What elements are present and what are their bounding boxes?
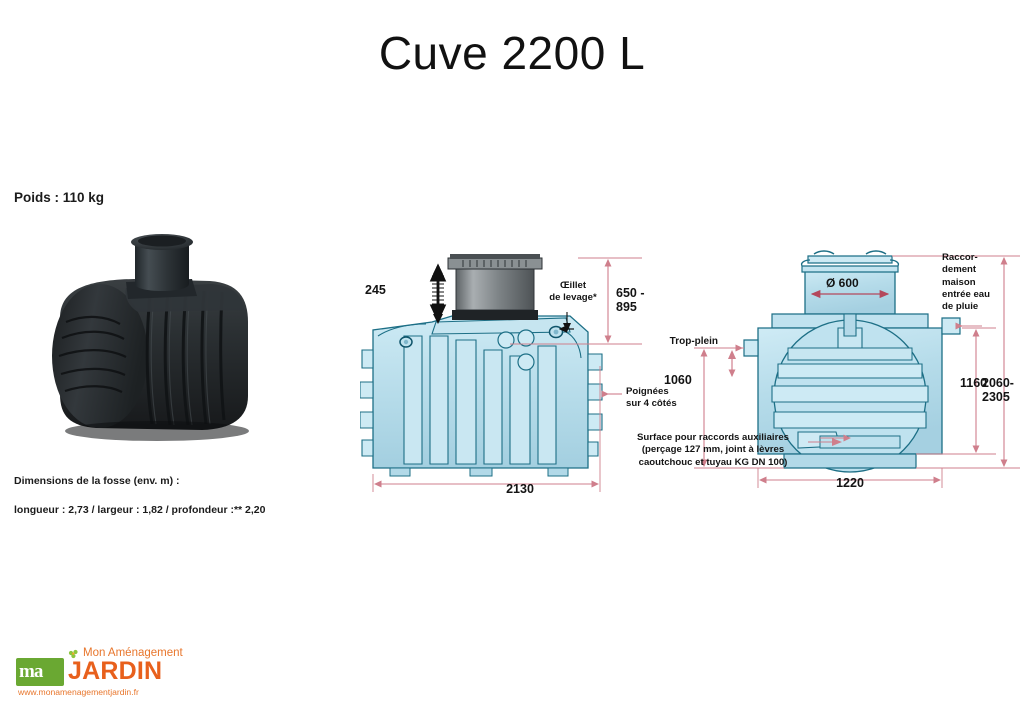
brand-logo[interactable]: ma Mon Aménagement JARDIN www.monamenage… <box>10 645 200 700</box>
logo-mark-text: ma <box>19 660 61 684</box>
pit-dimensions-line1: Dimensions de la fosse (env. m) : <box>14 475 180 487</box>
page-title: Cuve 2200 L <box>0 26 1024 80</box>
pit-dimensions-note: Dimensions de la fosse (env. m) : longue… <box>14 460 265 517</box>
note-lifting-eye: Œillet de levage* <box>542 280 604 305</box>
note-house-connection: Raccor- dement maison entrée eau de plui… <box>942 252 1000 313</box>
note-overflow: Trop-plein <box>650 336 718 349</box>
front-view-panel: Ø 600 1160 1060 2060- 2305 1220 Trop-ple… <box>660 236 1024 506</box>
dim-diameter: Ø 600 <box>826 277 859 291</box>
dim-width: 1220 <box>810 476 890 490</box>
dim-dome-height: 245 <box>365 283 386 297</box>
dim-total-height: 650 - 895 <box>616 286 650 315</box>
dim-depth-range: 2060- 2305 <box>982 376 1014 405</box>
pit-dimensions-line2: longueur : 2,73 / largeur : 1,82 / profo… <box>14 504 265 516</box>
dim-1060: 1060 <box>664 373 692 387</box>
logo-main-text: JARDIN <box>68 657 162 686</box>
logo-url[interactable]: www.monamenagementjardin.fr <box>18 687 139 697</box>
page-root: Cuve 2200 L Poids : 110 kg <box>0 0 1024 705</box>
dim-tank-length: 2130 <box>460 482 580 496</box>
tank-photo-image <box>42 226 270 444</box>
weight-label: Poids : 110 kg <box>14 190 104 206</box>
tank-photo-panel: Poids : 110 kg <box>0 190 300 500</box>
note-aux-connections: Surface pour raccords auxiliaires (perça… <box>604 432 822 469</box>
